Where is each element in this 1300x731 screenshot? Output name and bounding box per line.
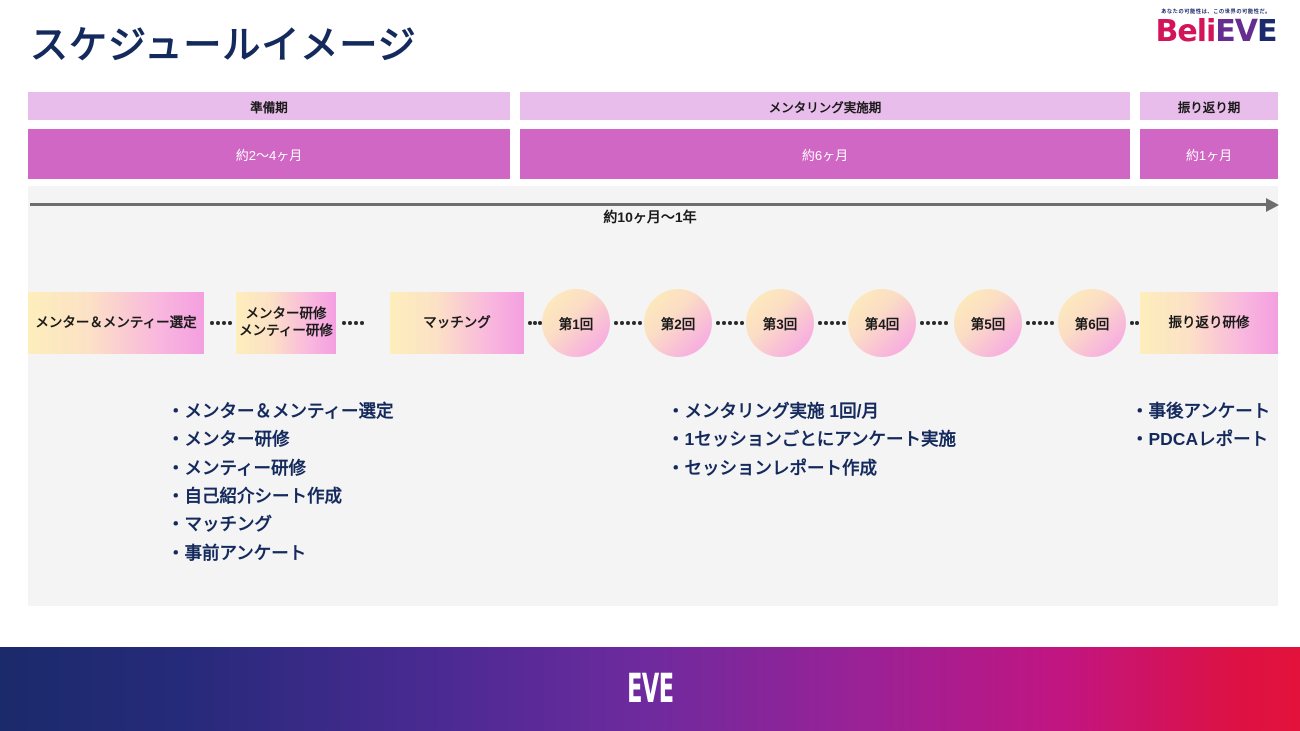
step-circle-session-3[interactable]: 第3回 (746, 289, 814, 357)
task-item: ・マッチング (167, 510, 393, 538)
task-item: ・セッションレポート作成 (667, 454, 956, 482)
step-connector-dots (818, 320, 846, 325)
task-item: ・事前アンケート (167, 539, 393, 567)
task-group-mentoring: ・メンタリング実施 1回/月 ・1セッションごとにアンケート実施 ・セッションレ… (667, 397, 956, 482)
task-group-review: ・事後アンケート ・PDCAレポート (1131, 397, 1270, 454)
step-label: 第5回 (971, 313, 1006, 333)
step-connector-dots (342, 320, 364, 325)
task-item: ・PDCAレポート (1131, 425, 1270, 453)
task-item: ・自己紹介シート作成 (167, 482, 393, 510)
step-connector-dots (1026, 320, 1054, 325)
slide-root: スケジュールイメージ あなたの可能性は、この世界の可能性だ。 BeliEVE 準… (0, 0, 1300, 731)
step-circle-session-6[interactable]: 第6回 (1058, 289, 1126, 357)
step-label-line1: メンター＆メンティー選定 (35, 315, 196, 332)
task-group-preparation: ・メンター＆メンティー選定 ・メンター研修 ・メンティー研修 ・自己紹介シート作… (167, 397, 393, 567)
step-label: 第2回 (661, 313, 696, 333)
step-connector-dots (614, 320, 642, 325)
phase-label-preparation: 準備期 (28, 92, 510, 120)
footer-bar: EVE (0, 647, 1300, 731)
task-item: ・メンティー研修 (167, 454, 393, 482)
step-circle-session-4[interactable]: 第4回 (848, 289, 916, 357)
timeline-total-caption: 約10ヶ月〜1年 (0, 207, 1300, 227)
timeline-arrow-line (30, 203, 1270, 206)
step-label-line1: 振り返り研修 (1169, 315, 1250, 332)
step-connector-dots (528, 320, 542, 325)
step-box-training[interactable]: メンター研修 メンティー研修 (236, 292, 336, 354)
task-item: ・メンタリング実施 1回/月 (667, 397, 956, 425)
step-box-selection[interactable]: メンター＆メンティー選定 (28, 292, 204, 354)
believe-logo: あなたの可能性は、この世界の可能性だ。 BeliEVE (1146, 8, 1286, 47)
step-label: 第1回 (559, 313, 594, 333)
step-label-line2: メンティー研修 (239, 323, 333, 340)
step-connector-dots (716, 320, 744, 325)
phase-duration-mentoring: 約6ヶ月 (520, 129, 1130, 179)
step-box-review-training[interactable]: 振り返り研修 (1140, 292, 1278, 354)
task-item: ・1セッションごとにアンケート実施 (667, 425, 956, 453)
step-connector-dots (920, 320, 948, 325)
step-connector-dots (210, 320, 232, 325)
page-title: スケジュールイメージ (30, 14, 417, 69)
logo-part-ev: EV (1215, 14, 1257, 49)
phase-duration-review: 約1ヶ月 (1140, 129, 1278, 179)
task-item: ・事後アンケート (1131, 397, 1270, 425)
phase-duration-preparation: 約2〜4ヶ月 (28, 129, 510, 179)
phase-label-mentoring: メンタリング実施期 (520, 92, 1130, 120)
step-box-matching[interactable]: マッチング (390, 292, 524, 354)
footer-brand: EVE (627, 666, 673, 712)
task-item: ・メンター＆メンティー選定 (167, 397, 393, 425)
step-circle-session-5[interactable]: 第5回 (954, 289, 1022, 357)
step-label: 第4回 (865, 313, 900, 333)
step-label-line1: メンター研修 (246, 306, 327, 323)
phase-label-review: 振り返り期 (1140, 92, 1278, 120)
logo-wordmark: BeliEVE (1146, 17, 1286, 47)
step-label: 第3回 (763, 313, 798, 333)
logo-part-e: E (1257, 14, 1277, 49)
step-strip: メンター＆メンティー選定 メンター研修 メンティー研修 マッチング 第1回 第2… (0, 292, 1300, 354)
step-label-line1: マッチング (423, 315, 491, 332)
logo-part-beli: Beli (1156, 14, 1216, 49)
step-label: 第6回 (1075, 313, 1110, 333)
task-item: ・メンター研修 (167, 425, 393, 453)
step-circle-session-2[interactable]: 第2回 (644, 289, 712, 357)
step-circle-session-1[interactable]: 第1回 (542, 289, 610, 357)
